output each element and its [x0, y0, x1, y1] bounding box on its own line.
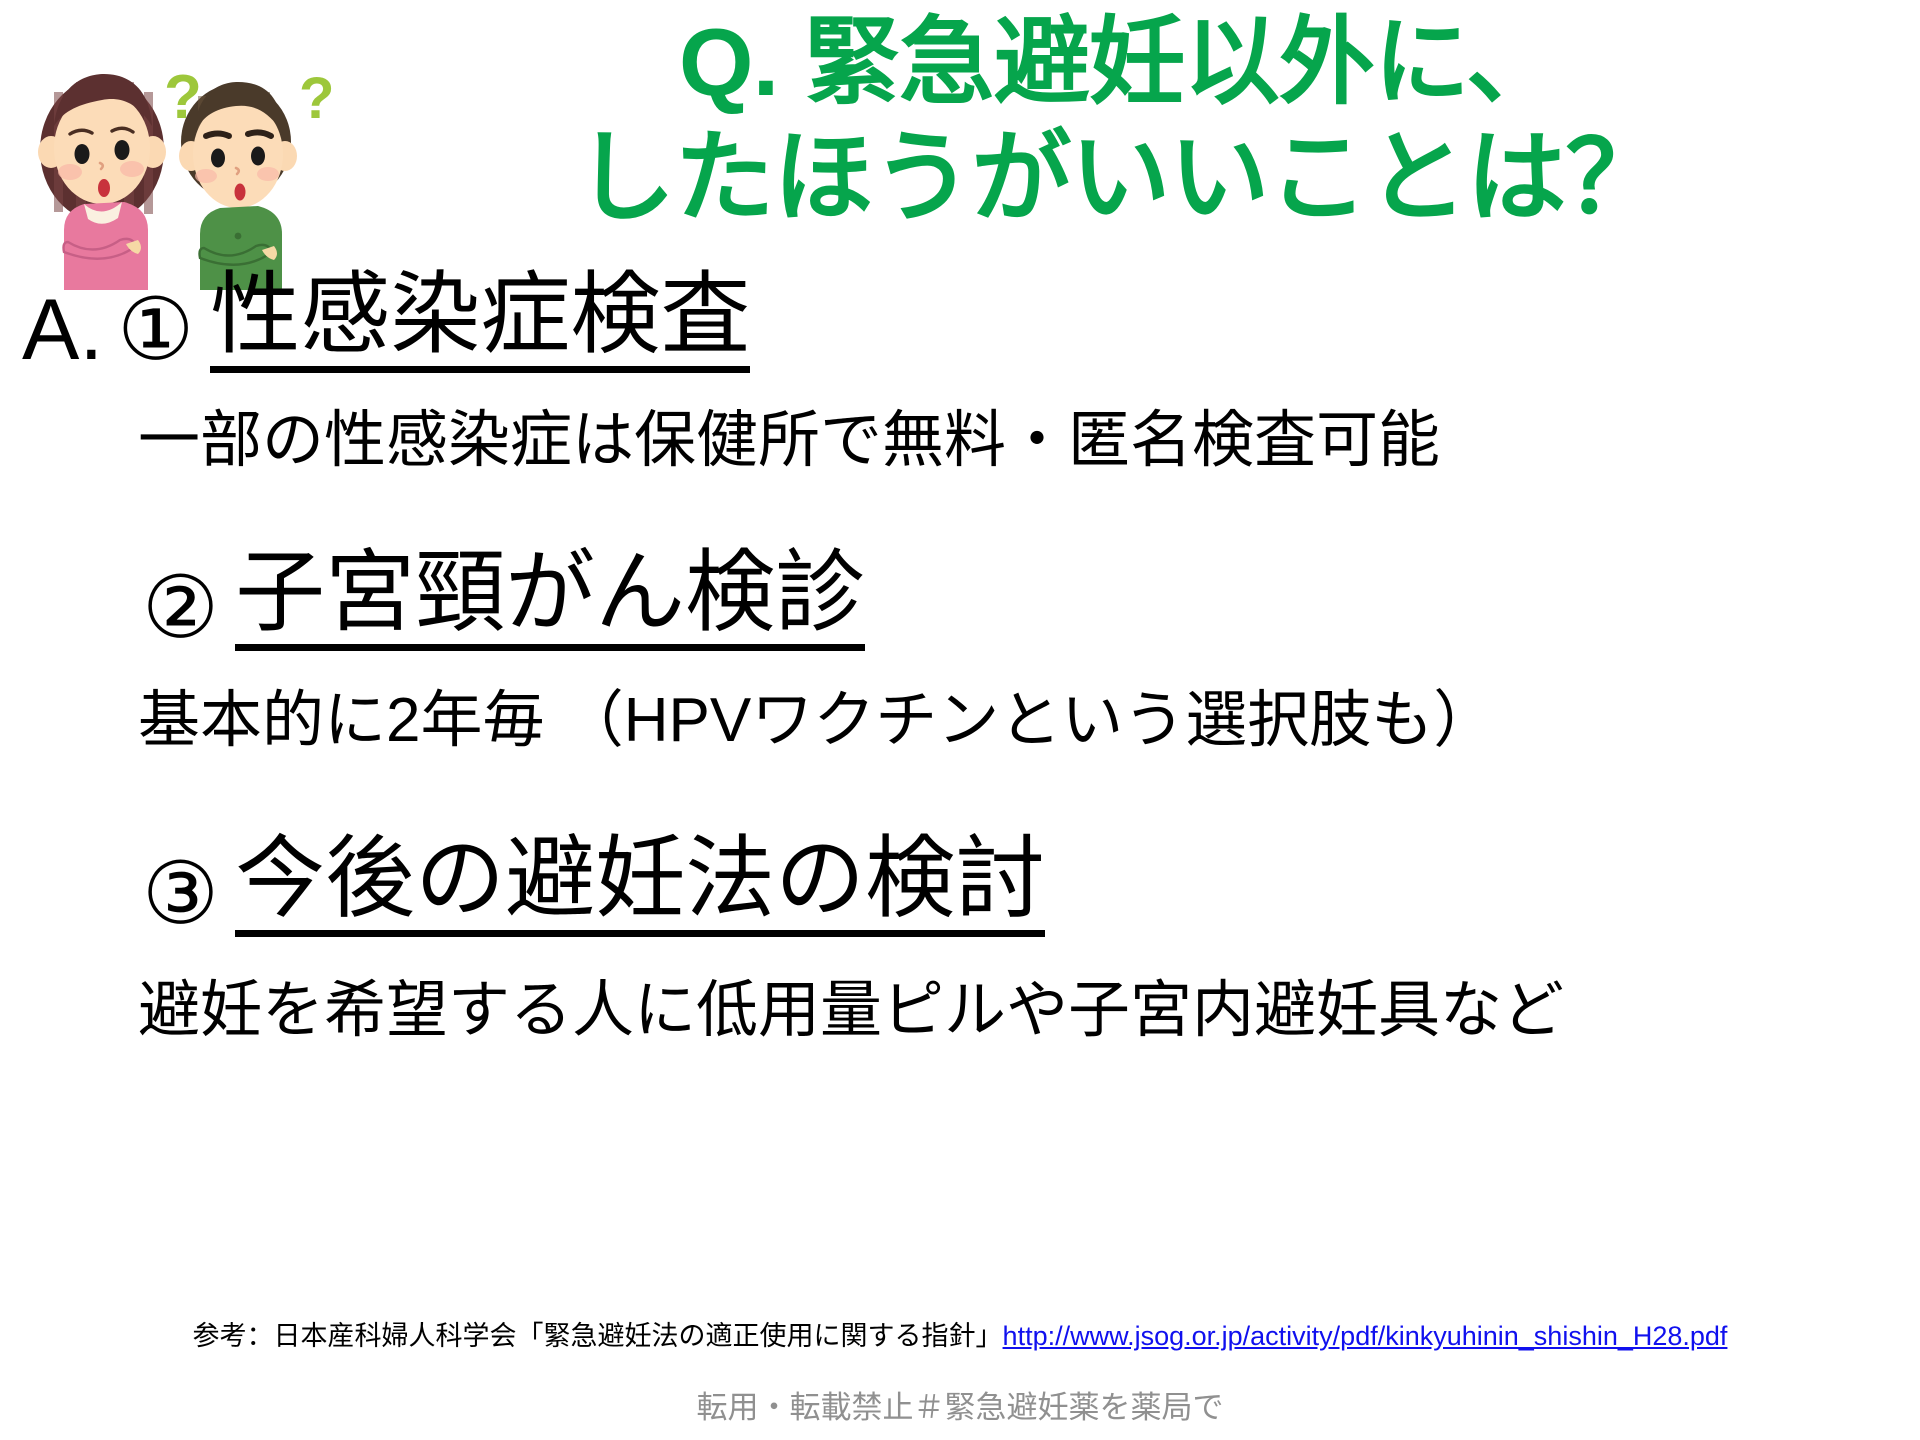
footer-reference: 参考：日本産科婦人科学会「緊急避妊法の適正使用に関する指針」http://www… — [0, 1320, 1920, 1354]
slide-canvas: ? ? Q. 緊急避妊以外に、 したほうがいいことは？ A. ① 性感染症検査 … — [0, 0, 1920, 1440]
item-detail-3: 避妊を希望する人に低用量ピルや子宮内避妊具など — [138, 980, 1564, 1042]
title-line-1: Q. 緊急避妊以外に、 — [420, 6, 1820, 119]
reference-url-link[interactable]: http://www.jsog.or.jp/activity/pdf/kinky… — [1003, 1321, 1728, 1351]
item-heading-1: 性感染症検査 — [210, 270, 750, 373]
title-line-2: したほうがいいことは？ — [420, 119, 1820, 237]
item-number-2: ② — [142, 565, 219, 651]
answer-item-1: A. ① 性感染症検査 — [22, 270, 750, 373]
item-number-3: ③ — [142, 851, 219, 937]
item-number-1: ① — [117, 287, 194, 373]
answer-prefix: A. — [22, 287, 103, 373]
answer-item-2: ② 子宮頸がん検診 — [128, 548, 865, 651]
item-heading-3: 今後の避妊法の検討 — [235, 834, 1045, 937]
reference-label: 参考：日本産科婦人科学会「緊急避妊法の適正使用に関する指針」 — [193, 1321, 1003, 1351]
woman-figure — [38, 74, 166, 290]
two-puzzled-people-illustration: ? ? — [14, 30, 334, 290]
answer-item-3: ③ 今後の避妊法の検討 — [128, 834, 1045, 937]
footer-watermark: 転用・転載禁止＃緊急避妊薬を薬局で — [0, 1382, 1920, 1427]
question-mark-icon: ? — [299, 66, 334, 131]
slide-title: Q. 緊急避妊以外に、 したほうがいいことは？ — [420, 6, 1820, 237]
question-mark-icon: ? — [164, 63, 202, 132]
item-detail-2: 基本的に2年毎 （HPVワクチンという選択肢も） — [138, 690, 1495, 752]
item-heading-2: 子宮頸がん検診 — [235, 548, 865, 651]
item-detail-1: 一部の性感染症は保健所で無料・匿名検査可能 — [138, 410, 1440, 472]
